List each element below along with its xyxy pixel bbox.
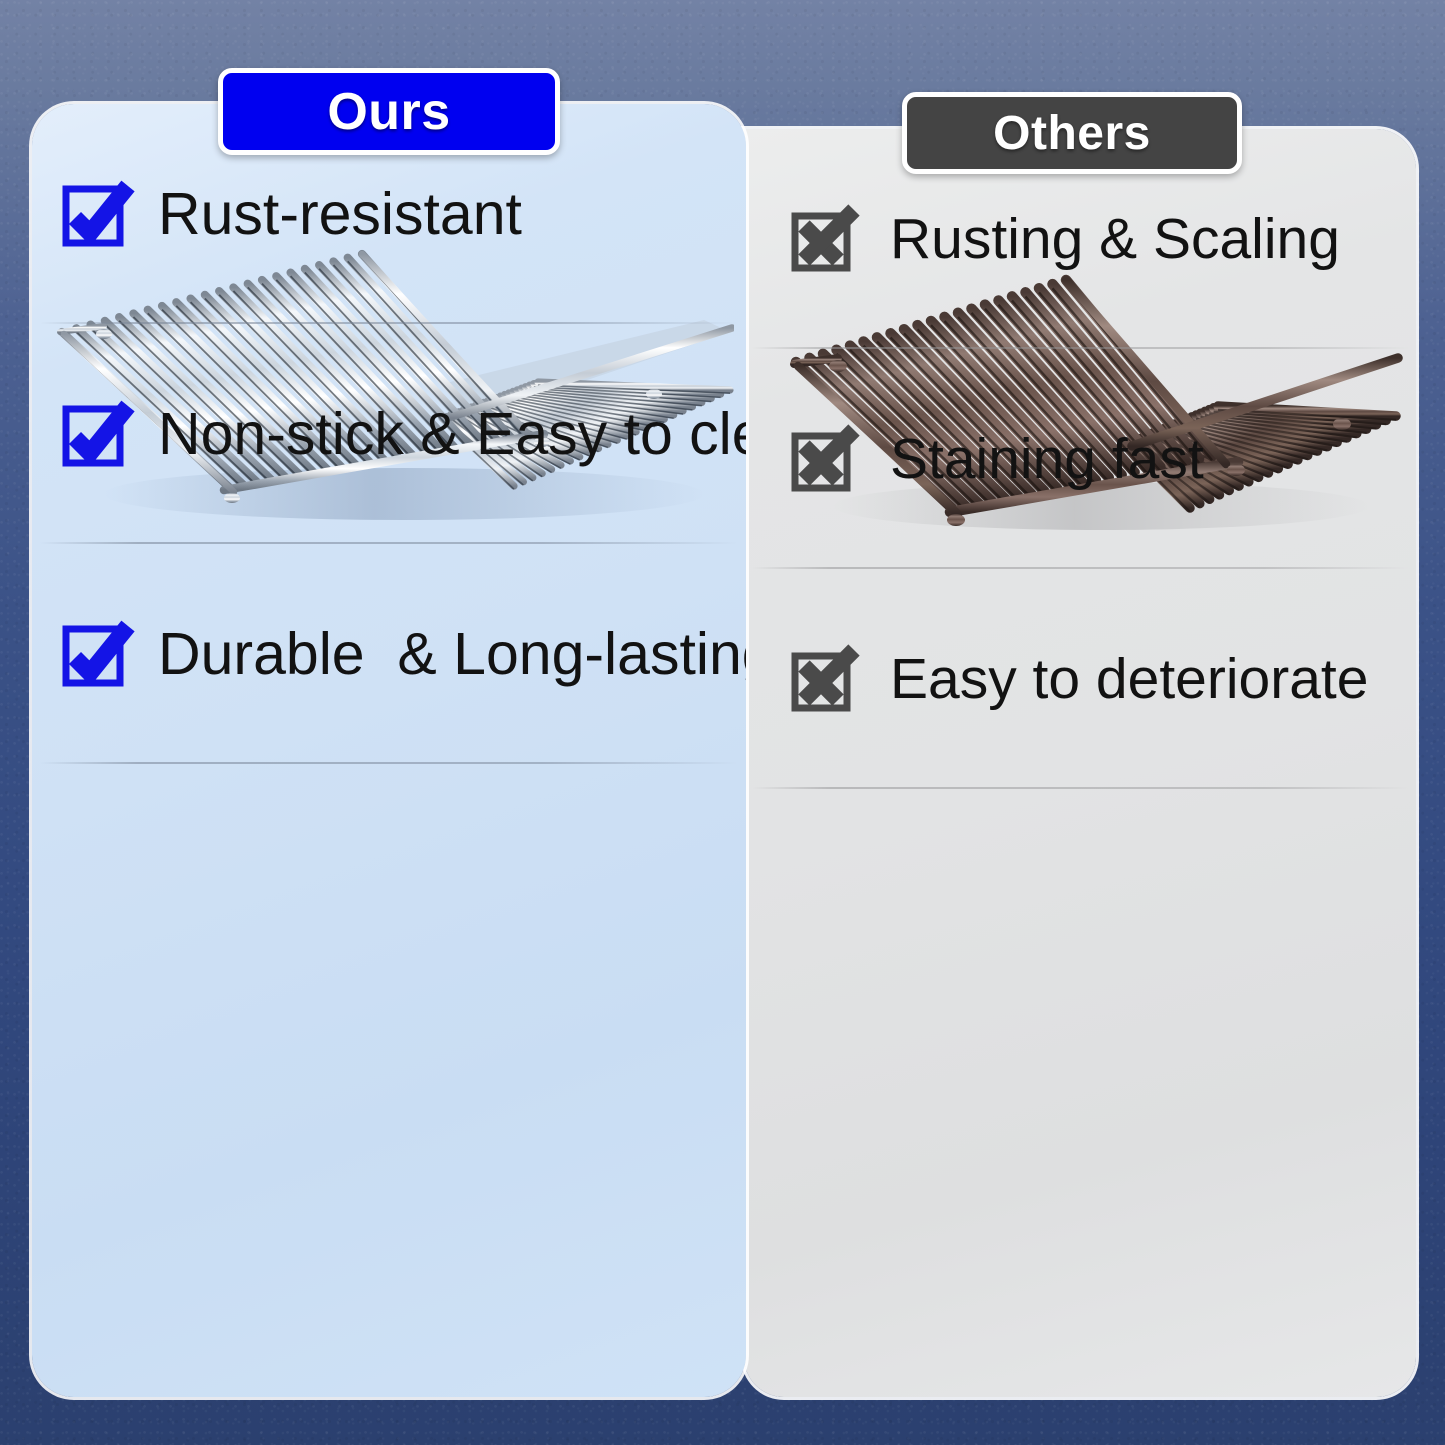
ours-badge: Ours: [218, 68, 560, 155]
feature-label: Rusting & Scaling: [890, 211, 1340, 268]
feature-row: Easy to deteriorate: [744, 569, 1416, 789]
feature-label: Rust-resistant: [158, 185, 522, 244]
comparison-infographic: Rust-resistant Non-stick & Easy to clean: [0, 0, 1445, 1445]
ours-panel: Rust-resistant Non-stick & Easy to clean: [32, 104, 746, 1397]
feature-label: Staining fast: [890, 431, 1204, 488]
checkbox-checked-icon: [62, 175, 136, 254]
checkbox-crossed-icon: [790, 640, 864, 719]
feature-label: Easy to deteriorate: [890, 651, 1368, 708]
row-divider: [40, 762, 738, 764]
others-feature-list: Rusting & Scaling Staining fast: [744, 129, 1416, 789]
checkbox-crossed-icon: [790, 200, 864, 279]
others-panel: Rusting & Scaling Staining fast: [744, 129, 1416, 1397]
ours-badge-label: Ours: [327, 82, 450, 142]
checkbox-checked-icon: [62, 615, 136, 694]
feature-row: Durable & Long-lasting: [32, 544, 746, 764]
feature-row: Staining fast: [744, 349, 1416, 569]
row-divider: [752, 787, 1408, 789]
others-badge: Others: [902, 92, 1242, 174]
checkbox-checked-icon: [62, 395, 136, 474]
feature-label: Durable & Long-lasting: [158, 625, 746, 684]
checkbox-crossed-icon: [790, 420, 864, 499]
ours-feature-list: Rust-resistant Non-stick & Easy to clean: [32, 104, 746, 764]
feature-row: Non-stick & Easy to clean: [32, 324, 746, 544]
feature-label: Non-stick & Easy to clean: [158, 405, 746, 464]
others-badge-label: Others: [993, 106, 1151, 161]
